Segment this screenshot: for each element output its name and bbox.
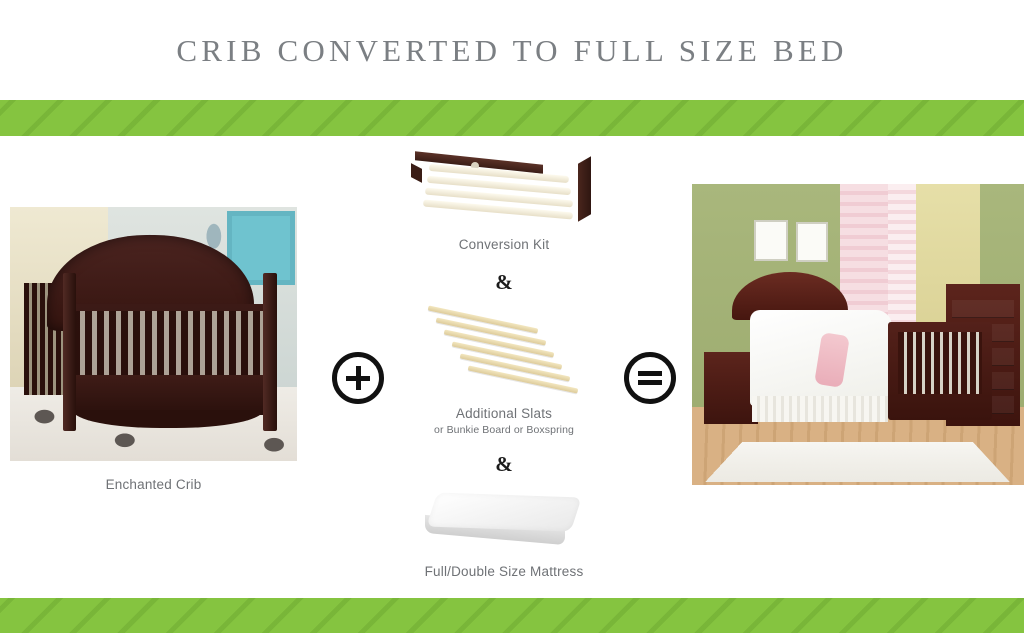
green-stripe-bar-top — [0, 100, 1024, 136]
wall-art-frame — [796, 222, 828, 262]
connector-ampersand-2: & — [396, 452, 612, 477]
bed-skirt — [752, 396, 888, 422]
conversion-kit-label: Conversion Kit — [396, 236, 612, 254]
plus-icon — [332, 352, 384, 404]
kit-front-rail — [578, 156, 591, 222]
green-stripe-bar-bottom — [0, 598, 1024, 633]
part-additional-slats: Additional Slats or Bunkie Board or Boxs… — [396, 309, 612, 477]
crib-front-slats — [73, 311, 268, 382]
content-stage: Enchanted Crib Conversion Kit & — [0, 136, 1024, 598]
equals-icon-top-bar — [638, 371, 662, 376]
additional-slats-label: Additional Slats — [396, 405, 612, 423]
bed-footboard-slats — [898, 332, 982, 394]
part-conversion-kit: Conversion Kit & — [396, 154, 612, 295]
conversion-kit-photo — [409, 154, 599, 224]
crib-panel: Enchanted Crib — [10, 207, 297, 492]
equals-icon — [624, 352, 676, 404]
enchanted-crib-photo — [10, 207, 297, 461]
page-title: CRIB CONVERTED TO FULL SIZE BED — [0, 33, 1024, 69]
dresser-drawer — [952, 300, 1014, 318]
mattress-top — [426, 493, 581, 532]
parts-column: Conversion Kit & Additional Slats or Bun… — [396, 154, 612, 582]
additional-slats-sublabel: or Bunkie Board or Boxspring — [396, 424, 612, 436]
plus-icon-vertical-bar — [356, 366, 361, 390]
crib-post-left — [63, 273, 76, 430]
kit-left-end — [411, 163, 422, 183]
converted-full-bed-room-photo — [692, 184, 1024, 485]
additional-slats-photo — [409, 309, 599, 393]
mattress-label: Full/Double Size Mattress — [396, 563, 612, 581]
crib-lower-rail — [67, 375, 274, 416]
crib-post-right — [263, 273, 277, 430]
full-double-mattress-photo — [419, 491, 589, 553]
wall-art-frame — [754, 220, 788, 261]
crib-caption: Enchanted Crib — [10, 477, 297, 492]
part-mattress: Full/Double Size Mattress — [396, 491, 612, 581]
connector-ampersand-1: & — [396, 270, 612, 295]
equals-icon-bottom-bar — [638, 380, 662, 385]
